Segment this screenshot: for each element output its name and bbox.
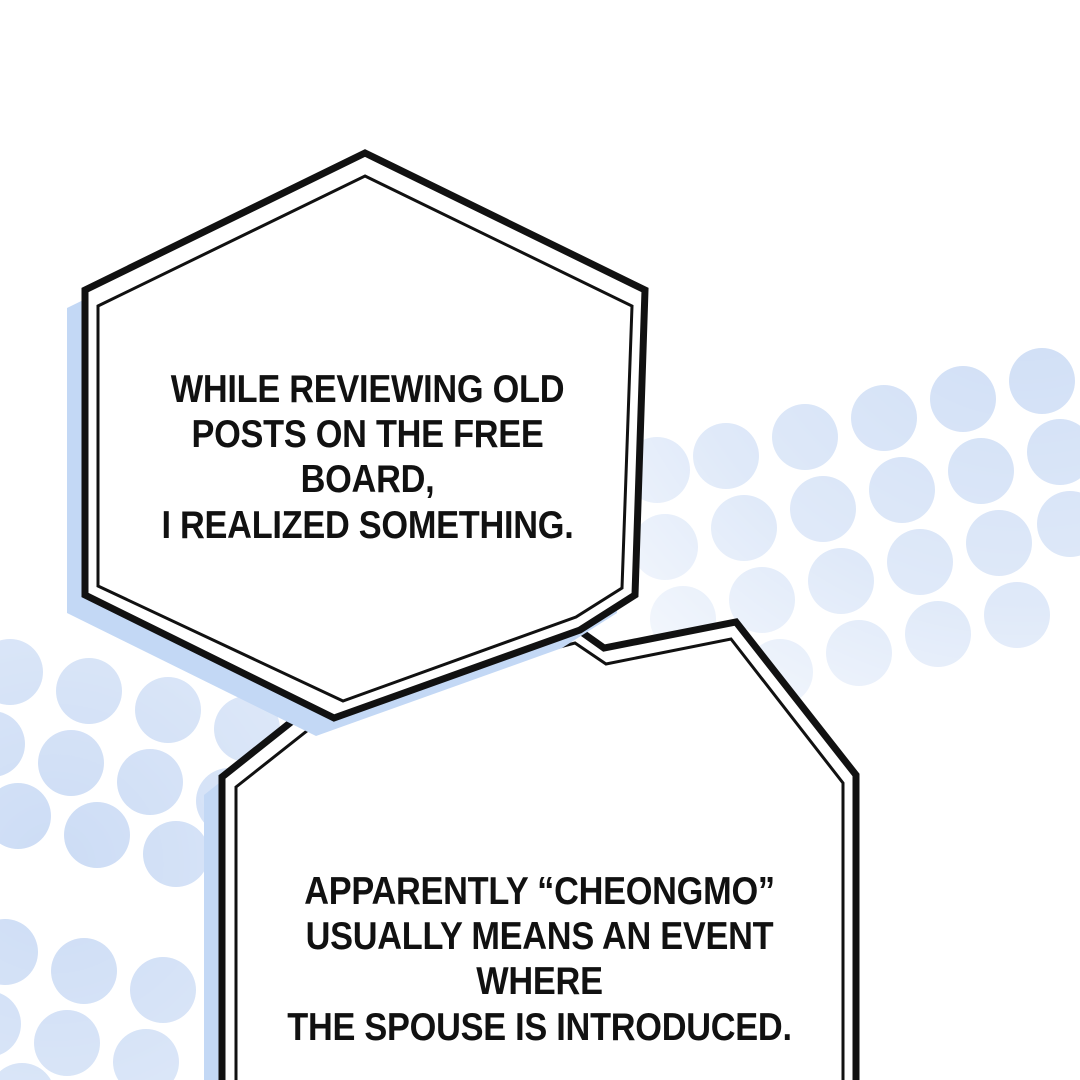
speech-balloon-group <box>0 0 1080 1080</box>
balloon-1-body <box>85 153 645 718</box>
speech-balloon-1[interactable] <box>67 153 645 736</box>
comic-panel: WHILE REVIEWING OLD POSTS ON THE FREE BO… <box>0 0 1080 1080</box>
